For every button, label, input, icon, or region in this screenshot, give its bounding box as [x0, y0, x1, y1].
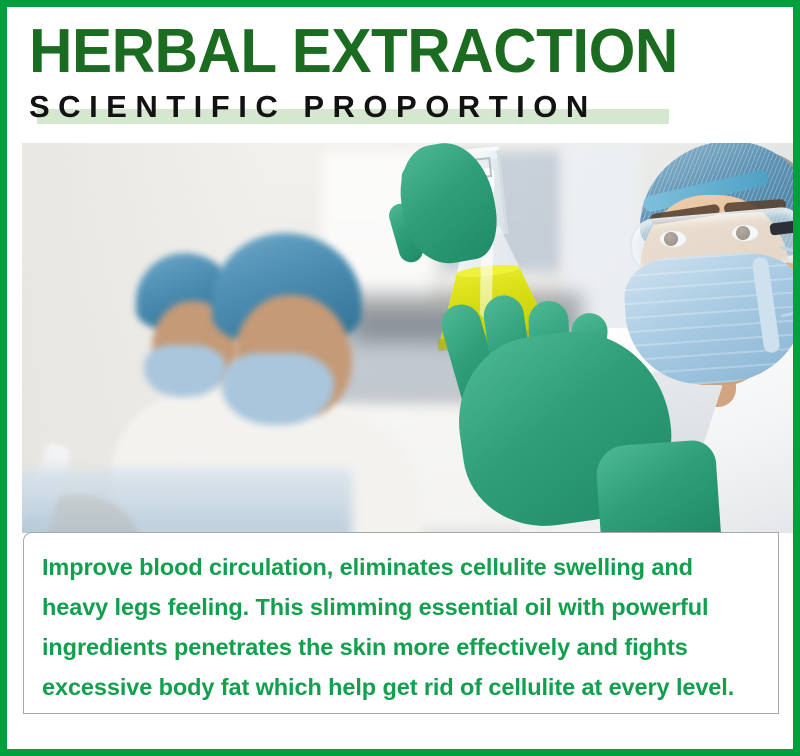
- banner-header: HERBAL EXTRACTION SCIENTIFIC PROPORTION: [7, 7, 793, 135]
- description-card: Improve blood circulation, eliminates ce…: [23, 532, 779, 714]
- page-subtitle: SCIENTIFIC PROPORTION: [29, 89, 597, 125]
- page-title: HERBAL EXTRACTION: [29, 19, 751, 85]
- herbal-extraction-banner: HERBAL EXTRACTION SCIENTIFIC PROPORTION: [0, 0, 800, 756]
- photo-background: [22, 143, 793, 533]
- banner-stage: HERBAL EXTRACTION SCIENTIFIC PROPORTION: [7, 7, 793, 749]
- laboratory-photo: [22, 143, 793, 533]
- foreground-scientist: [402, 143, 793, 533]
- subtitle-group: SCIENTIFIC PROPORTION: [29, 89, 773, 131]
- glove-cuff: [595, 439, 722, 533]
- description-text: Improve blood circulation, eliminates ce…: [42, 547, 760, 707]
- mask-ear-loop: [780, 247, 793, 317]
- lab-bench: [22, 469, 352, 533]
